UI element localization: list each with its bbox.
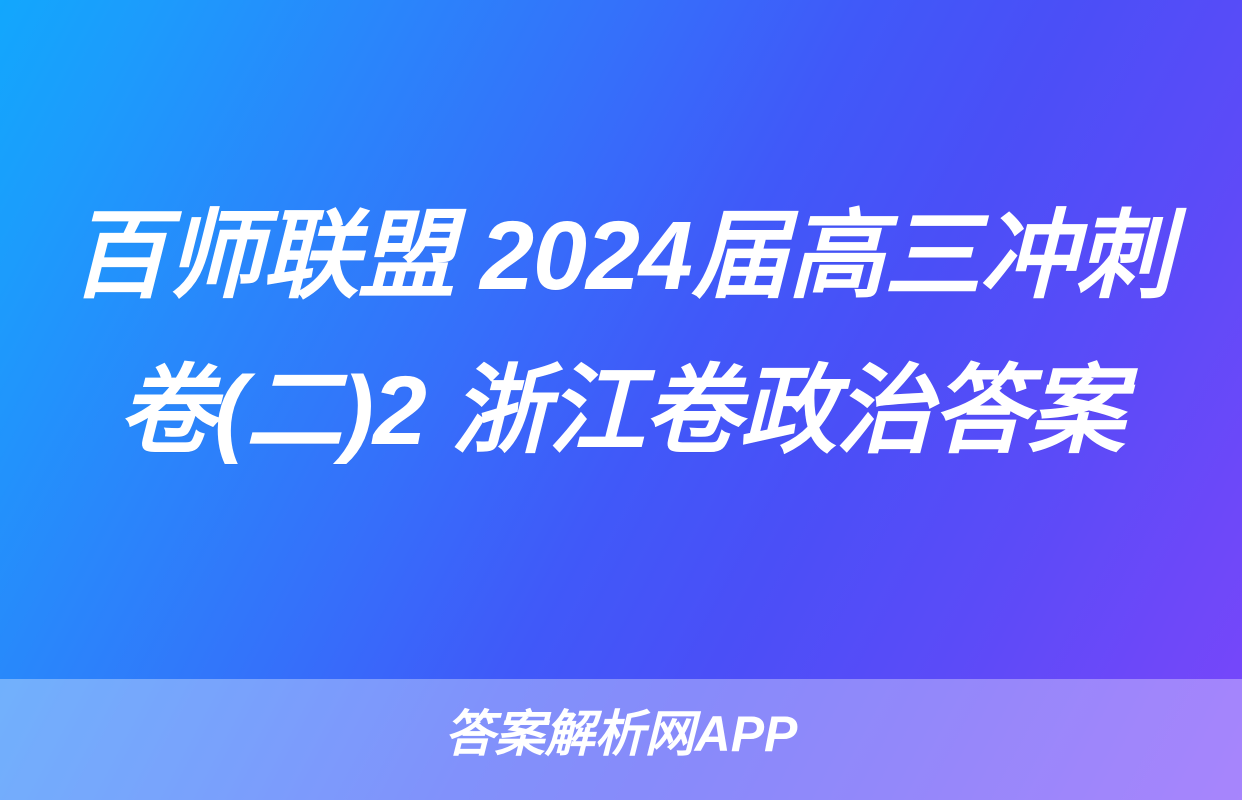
share-card: 百师联盟 2024届高三冲刺卷(二)2 浙江卷政治答案 答案解析网APP — [0, 0, 1242, 800]
title-area: 百师联盟 2024届高三冲刺卷(二)2 浙江卷政治答案 — [0, 178, 1242, 488]
watermark: 答案解析网APP — [0, 705, 1242, 763]
watermark-brand-label: 答案解析网APP — [445, 705, 798, 763]
page-title: 百师联盟 2024届高三冲刺卷(二)2 浙江卷政治答案 — [62, 178, 1180, 488]
